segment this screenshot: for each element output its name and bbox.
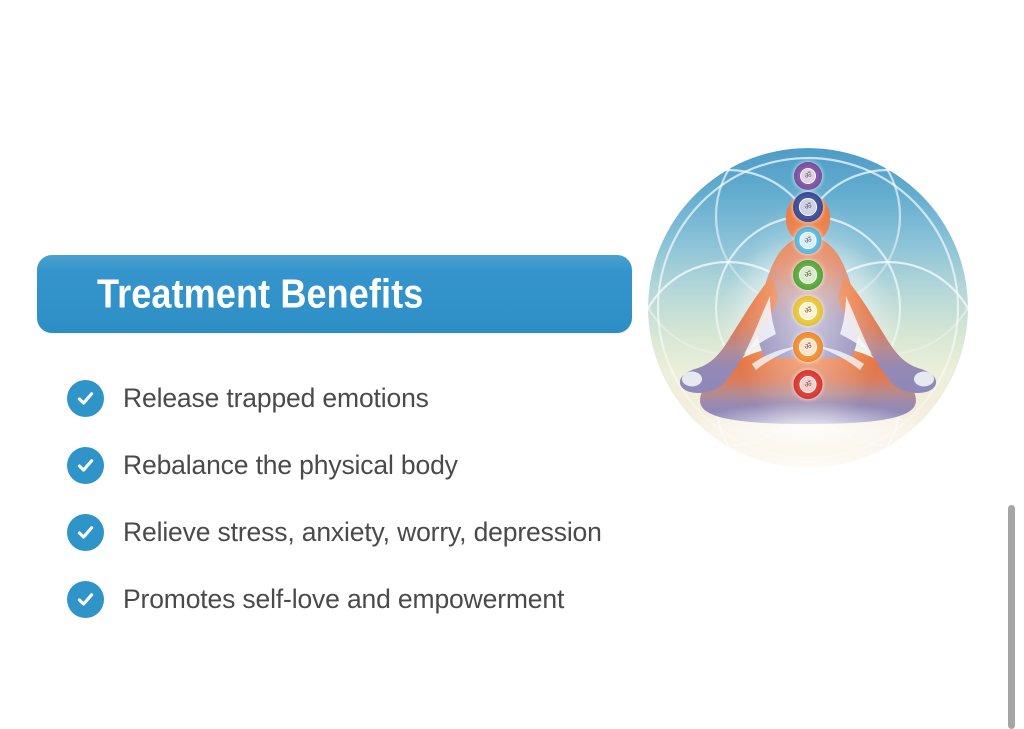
sacral-chakra-icon: ॐ xyxy=(793,332,823,362)
third-eye-chakra-icon: ॐ xyxy=(793,192,823,222)
meditating-figure-chakras-image: ॐ ॐ ॐ ॐ ॐ ॐ ॐ xyxy=(648,148,968,468)
benefits-list: Release trapped emotions Rebalance the p… xyxy=(67,365,602,633)
heart-chakra-icon: ॐ xyxy=(793,260,823,290)
sacral-chakra-symbol: ॐ xyxy=(804,343,811,351)
benefit-label: Relieve stress, anxiety, worry, depressi… xyxy=(123,517,602,548)
benefit-label: Rebalance the physical body xyxy=(123,450,458,481)
title-banner: Treatment Benefits xyxy=(37,255,632,333)
throat-chakra-symbol: ॐ xyxy=(804,237,811,245)
benefit-label: Promotes self-love and empowerment xyxy=(123,584,564,615)
page-title: Treatment Benefits xyxy=(97,271,423,318)
solar-plexus-chakra-symbol: ॐ xyxy=(804,307,811,315)
heart-chakra-symbol: ॐ xyxy=(804,271,811,279)
check-circle-icon xyxy=(67,380,104,417)
benefit-label: Release trapped emotions xyxy=(123,383,429,414)
crown-chakra-icon: ॐ xyxy=(794,162,822,190)
check-circle-icon xyxy=(67,447,104,484)
list-item: Rebalance the physical body xyxy=(67,432,602,499)
throat-chakra-icon: ॐ xyxy=(795,227,822,254)
root-chakra-icon: ॐ xyxy=(794,370,823,399)
crown-chakra-symbol: ॐ xyxy=(804,172,811,180)
third-eye-chakra-symbol: ॐ xyxy=(804,203,811,211)
list-item: Promotes self-love and empowerment xyxy=(67,566,602,633)
solar-plexus-chakra-icon: ॐ xyxy=(793,296,823,326)
list-item: Relieve stress, anxiety, worry, depressi… xyxy=(67,499,602,566)
list-item: Release trapped emotions xyxy=(67,365,602,432)
vertical-scrollbar-thumb[interactable] xyxy=(1008,505,1015,729)
slide-canvas: ॐ ॐ ॐ ॐ ॐ ॐ ॐ Treatment Benefits xyxy=(0,0,1024,729)
check-circle-icon xyxy=(67,581,104,618)
check-circle-icon xyxy=(67,514,104,551)
root-chakra-symbol: ॐ xyxy=(804,381,811,389)
